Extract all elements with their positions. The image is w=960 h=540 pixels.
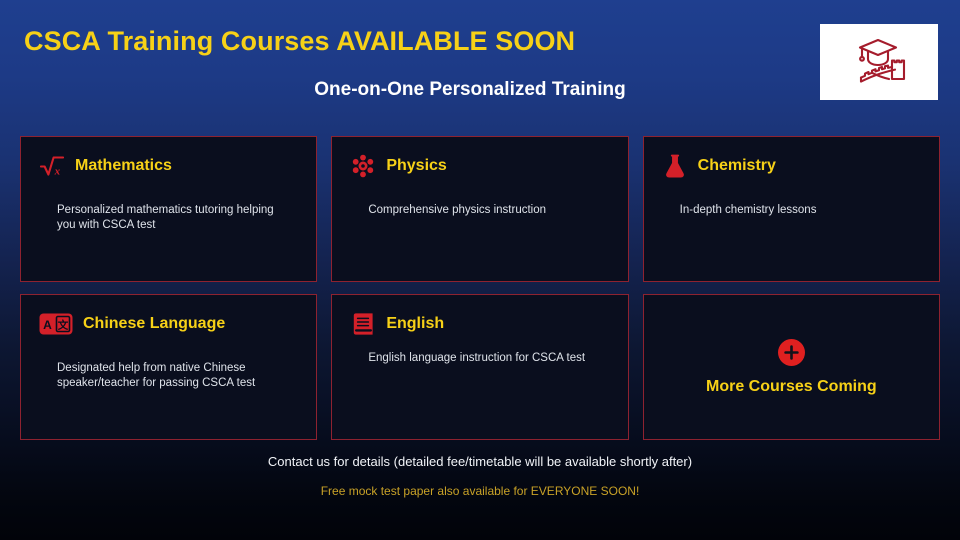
course-grid: x Mathematics Personalized mathematics t… [20,136,940,440]
course-title: Mathematics [75,157,172,175]
page-title: CSCA Training Courses AVAILABLE SOON [24,26,575,57]
flask-icon [662,153,688,179]
atom-icon [350,153,376,179]
course-description: Designated help from native Chinese spea… [57,361,282,391]
course-card-header: Chemistry [662,151,921,181]
svg-text:文: 文 [57,319,69,332]
course-description: Comprehensive physics instruction [368,203,593,218]
footer: Contact us for details (detailed fee/tim… [0,452,960,500]
more-courses-card[interactable]: More Courses Coming [643,294,940,440]
square-root-icon: x [39,153,65,179]
course-title: Chemistry [698,157,776,175]
course-description: In-depth chemistry lessons [680,203,905,218]
course-title: Chinese Language [83,315,225,333]
footer-contact-text: Contact us for details (detailed fee/tim… [0,452,960,472]
plus-circle-icon [778,339,805,366]
course-title: English [386,315,444,333]
translate-icon: A 文 [39,311,73,337]
course-card-chinese-language[interactable]: A 文 Chinese Language Designated help fro… [20,294,317,440]
course-card-mathematics[interactable]: x Mathematics Personalized mathematics t… [20,136,317,282]
course-card-english[interactable]: English English language instruction for… [331,294,628,440]
course-card-header: x Mathematics [39,151,298,181]
svg-text:A: A [43,318,52,332]
course-card-physics[interactable]: Physics Comprehensive physics instructio… [331,136,628,282]
course-card-chemistry[interactable]: Chemistry In-depth chemistry lessons [643,136,940,282]
header: CSCA Training Courses AVAILABLE SOON One… [0,0,960,122]
course-title: Physics [386,157,446,175]
course-description: English language instruction for CSCA te… [368,351,593,366]
svg-text:x: x [54,165,61,177]
course-card-header: Physics [350,151,609,181]
logo-container [820,24,938,100]
footer-mock-test-text: Free mock test paper also available for … [0,482,960,500]
slide-canvas: CSCA Training Courses AVAILABLE SOON One… [0,0,960,540]
course-card-header: A 文 Chinese Language [39,309,298,339]
page-subtitle: One-on-One Personalized Training [0,79,960,101]
course-description: Personalized mathematics tutoring helpin… [57,203,282,233]
course-card-header: English [350,309,609,339]
book-icon [350,311,376,337]
graduation-cap-great-wall-icon [848,34,910,90]
more-courses-label: More Courses Coming [706,378,877,396]
